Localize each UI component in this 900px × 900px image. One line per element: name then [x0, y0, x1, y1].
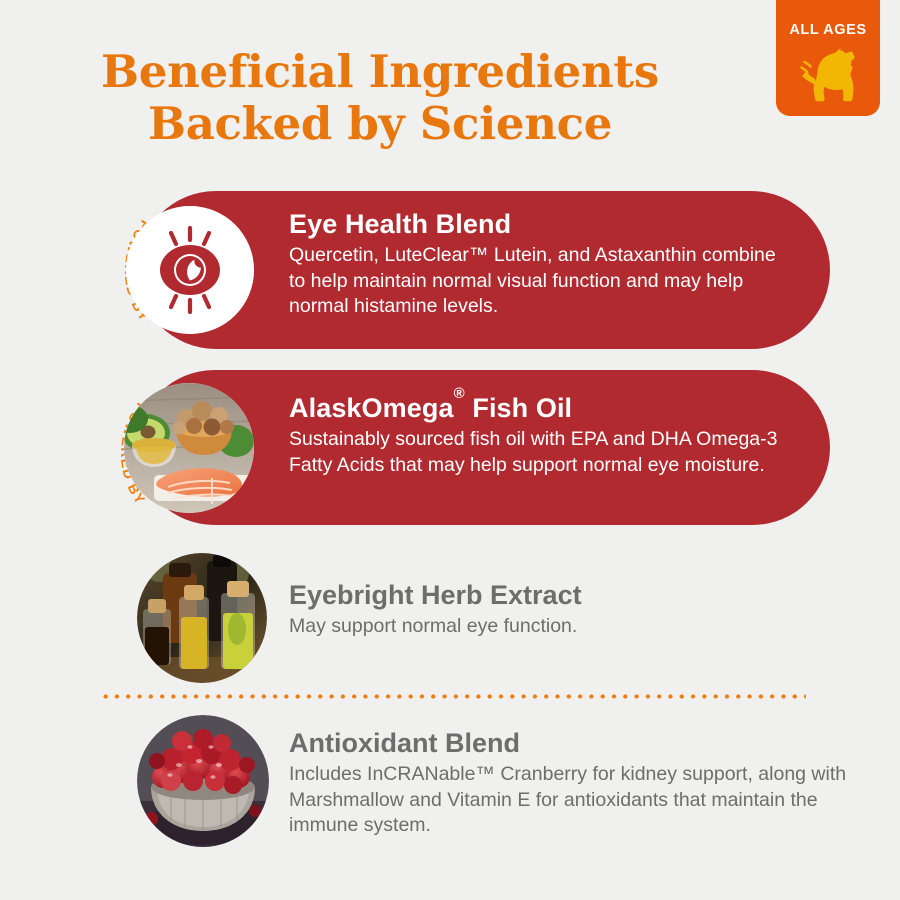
card-body: Sustainably sourced fish oil with EPA an… — [289, 427, 790, 478]
row-title: Antioxidant Blend — [289, 727, 849, 760]
row-title: Eyebright Herb Extract — [289, 579, 849, 612]
row-body: May support normal eye function. — [289, 614, 849, 640]
card-text-block: AlaskOmega® Fish Oil Sustainably sourced… — [289, 386, 790, 478]
dog-silhouette-icon — [790, 42, 868, 108]
row-text-block: Antioxidant Blend Includes InCRANable™ C… — [289, 727, 849, 839]
card-text-block: Eye Health Blend Quercetin, LuteClear™ L… — [289, 208, 790, 320]
ingredient-card-alaskomega: AlaskOmega® Fish Oil Sustainably sourced… — [137, 370, 830, 525]
card-title: AlaskOmega® Fish Oil — [289, 386, 790, 425]
ingredient-card-eye-health: Eye Health Blend Quercetin, LuteClear™ L… — [137, 191, 830, 349]
card-body: Quercetin, LuteClear™ Lutein, and Astaxa… — [289, 243, 790, 320]
all-ages-badge-label: ALL AGES — [776, 22, 880, 38]
page-title-line-2: Backed by Science — [0, 98, 760, 150]
card-title: Eye Health Blend — [289, 208, 790, 241]
fish-oil-photo — [124, 383, 254, 513]
card-title-main: AlaskOmega — [289, 393, 454, 423]
cranberry-bowl-photo — [137, 715, 269, 847]
all-ages-badge: ALL AGES — [776, 0, 880, 116]
card-title-rest: Fish Oil — [465, 393, 572, 423]
eye-icon — [126, 206, 254, 334]
essential-oil-bottles-photo — [137, 553, 267, 683]
row-body: Includes InCRANable™ Cranberry for kidne… — [289, 762, 849, 839]
dotted-divider — [100, 694, 806, 699]
page-title: Beneficial Ingredients Backed by Science — [0, 46, 760, 150]
page-title-line-1: Beneficial Ingredients — [101, 45, 659, 98]
registered-trademark-icon: ® — [454, 385, 465, 402]
row-text-block: Eyebright Herb Extract May support norma… — [289, 579, 849, 640]
infographic-page: ALL AGES Beneficial Ingredients Backed b… — [0, 0, 900, 900]
